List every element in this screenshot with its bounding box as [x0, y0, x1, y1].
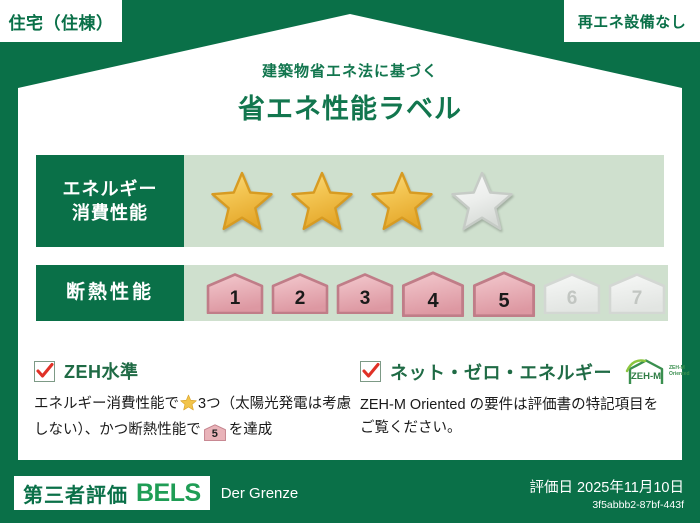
insulation-grade-value: 7 — [632, 288, 643, 310]
badge-building-type: 住宅（住棟） — [0, 0, 122, 42]
badge-building-type-label: 住宅（住棟） — [9, 9, 114, 34]
zeh-standard-description: エネルギー消費性能で3つ（太陽光発電は考慮しない）、かつ断熱性能で5を達成 — [34, 393, 354, 443]
zeh-m-logo-sub-line2: Oriented — [669, 371, 690, 377]
insulation-grade-value: 2 — [295, 288, 306, 310]
title-main: 省エネ性能ラベル — [0, 87, 700, 126]
insulation-grade-active: 4 — [399, 270, 467, 317]
insulation-performance-row: 断熱性能 1234567 — [36, 265, 664, 321]
star-icon-filled — [210, 170, 274, 232]
inline-grade-badge: 5 — [203, 424, 227, 441]
insulation-performance-label: 断熱性能 — [36, 265, 184, 321]
energy-label-line2: 消費性能 — [72, 201, 148, 225]
zeh-standard-heading: ZEH水準 — [34, 358, 354, 384]
star-rating — [184, 155, 664, 247]
net-zero-description: ZEH-M Oriented の要件は評価書の特記項目をご覧ください。 — [360, 394, 670, 441]
insulation-grade-value: 6 — [567, 288, 578, 310]
label-title-block: 建築物省エネ法に基づく 省エネ性能ラベル — [0, 60, 700, 126]
insulation-grade-inactive: 6 — [541, 272, 603, 314]
evaluation-id: 3f5abbb2-87bf-443f — [530, 499, 684, 511]
energy-performance-label: エネルギー 消費性能 — [36, 155, 184, 247]
energy-label-line1: エネルギー — [63, 177, 158, 201]
insulation-grade-scale: 1234567 — [184, 265, 668, 321]
zeh-m-oriented-logo: ZEH-M ZEH-M Oriented — [625, 358, 690, 385]
insulation-grade-inactive: 7 — [606, 272, 668, 314]
star-icon — [180, 394, 197, 419]
zeh-standard-title: ZEH水準 — [64, 358, 139, 384]
insulation-grade-value: 4 — [427, 290, 438, 313]
star-icon-filled — [290, 170, 354, 232]
insulation-grade-active: 5 — [470, 270, 538, 317]
zeh-m-logo-sublabel: ZEH-M Oriented — [669, 366, 690, 378]
bels-japanese-label: 第三者評価 — [23, 479, 128, 508]
zeh-text-part3: を達成 — [229, 422, 273, 438]
label-footer: 第三者評価 BELS Der Grenze 評価日 2025年11月10日 3f… — [0, 463, 700, 523]
insulation-label-text: 断熱性能 — [66, 280, 154, 306]
insulation-grade-active: 2 — [269, 272, 331, 314]
checked-checkbox-icon — [360, 361, 381, 382]
badge-renewable-label: 再エネ設備なし — [578, 11, 687, 32]
net-zero-heading: ネット・ゼロ・エネルギー ZEH-M ZEH-M Oriented — [360, 358, 670, 385]
net-zero-title: ネット・ゼロ・エネルギー — [390, 359, 612, 385]
evaluation-date: 評価日 2025年11月10日 — [530, 476, 684, 497]
zeh-standard-block: ZEH水準 エネルギー消費性能で3つ（太陽光発電は考慮しない）、かつ断熱性能で5… — [34, 358, 354, 443]
bels-badge: 第三者評価 BELS — [14, 476, 210, 510]
zeh-text-part1: エネルギー消費性能で — [34, 396, 179, 412]
checked-checkbox-icon — [34, 361, 55, 382]
bels-logo-text: BELS — [136, 479, 201, 508]
title-subtitle: 建築物省エネ法に基づく — [0, 60, 700, 81]
insulation-grade-active: 3 — [334, 272, 396, 314]
insulation-grade-value: 3 — [360, 288, 371, 310]
evaluation-info: 評価日 2025年11月10日 3f5abbb2-87bf-443f — [530, 476, 684, 511]
badge-renewable-equipment: 再エネ設備なし — [564, 0, 700, 42]
energy-performance-label: 住宅（住棟） 再エネ設備なし 建築物省エネ法に基づく 省エネ性能ラベル エネルギ… — [0, 0, 700, 523]
company-name: Der Grenze — [221, 485, 299, 502]
insulation-grade-value: 1 — [230, 288, 241, 310]
insulation-grade-active: 1 — [204, 272, 266, 314]
svg-text:ZEH-M: ZEH-M — [631, 371, 661, 382]
inline-grade-value: 5 — [212, 428, 218, 440]
energy-performance-row: エネルギー 消費性能 — [36, 155, 664, 247]
net-zero-energy-block: ネット・ゼロ・エネルギー ZEH-M ZEH-M Oriented ZEH-M … — [360, 358, 670, 441]
star-icon-filled — [370, 170, 434, 232]
insulation-grade-value: 5 — [498, 290, 509, 313]
star-icon-empty — [450, 170, 514, 232]
